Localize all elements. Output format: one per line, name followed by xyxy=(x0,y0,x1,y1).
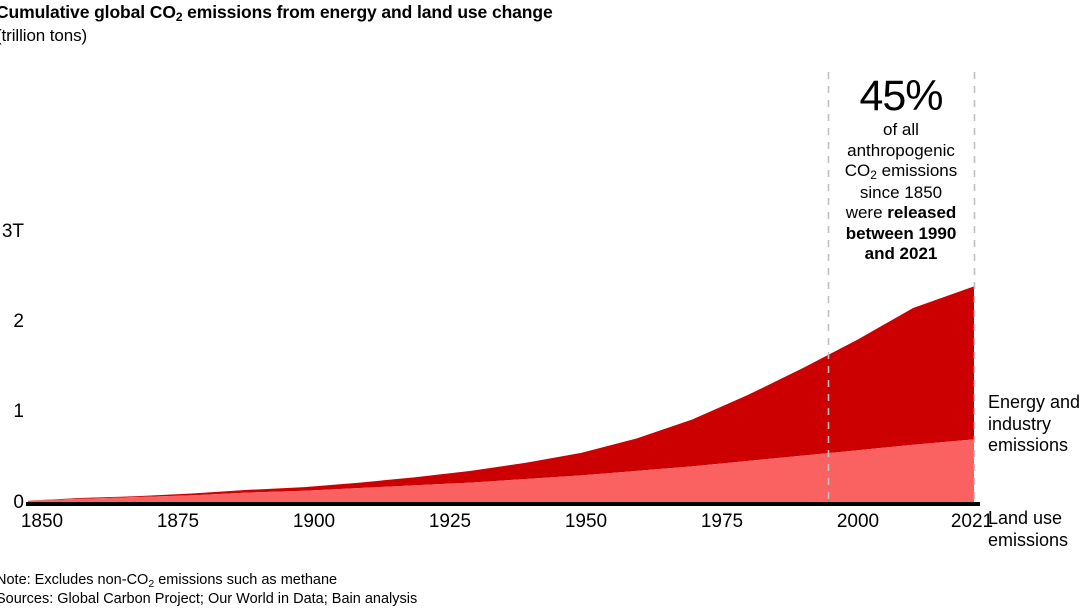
footer-sources: Sources: Global Carbon Project; Our Worl… xyxy=(0,590,996,608)
callout-annotation: 45% of all anthropogenic CO2 emissions s… xyxy=(828,72,974,265)
callout-line-4: since 1850 xyxy=(828,183,974,204)
x-tick-label-1850: 1850 xyxy=(21,512,63,532)
callout-line-3-subscript: 2 xyxy=(870,168,877,182)
callout-line-1: of all xyxy=(828,120,974,141)
x-tick-label-1925: 1925 xyxy=(429,512,471,532)
callout-line-3-pre: CO xyxy=(845,161,871,180)
callout-line-2: anthropogenic xyxy=(828,141,974,162)
callout-line-5-plain: were xyxy=(846,203,888,222)
callout-line-7: and 2021 xyxy=(828,244,974,265)
series-label-energy-line3: emissions xyxy=(988,435,1080,457)
series-label-energy-line2: industry xyxy=(988,414,1080,436)
footer-note-pre: Note: Excludes non-CO xyxy=(0,572,148,588)
y-tick-label-2: 2 xyxy=(0,312,24,331)
series-label-energy-and-industry: Energy and industry emissions xyxy=(988,392,1080,457)
x-axis-labels: 1850 1875 1900 1925 1950 1975 2000 2021 xyxy=(0,512,1080,542)
x-tick-label-1975: 1975 xyxy=(701,512,743,532)
x-tick-label-1900: 1900 xyxy=(293,512,335,532)
y-tick-label-3: 3T xyxy=(0,222,24,241)
x-tick-label-2000: 2000 xyxy=(837,512,879,532)
callout-line-5: were released xyxy=(828,203,974,224)
y-tick-label-1: 1 xyxy=(0,402,24,421)
callout-line-3: CO2 emissions xyxy=(828,161,974,183)
chart-footer: Note: Excludes non-CO2 emissions such as… xyxy=(0,571,996,608)
callout-line-6: between 1990 xyxy=(828,224,974,245)
callout-percentage: 45% xyxy=(828,72,974,120)
y-tick-label-0: 0 xyxy=(0,493,24,512)
x-tick-label-2021: 2021 xyxy=(951,512,993,532)
footer-note-subscript: 2 xyxy=(148,578,154,590)
footer-note-post: emissions such as methane xyxy=(154,572,337,588)
callout-description: of all anthropogenic CO2 emissions since… xyxy=(828,120,974,265)
x-tick-label-1875: 1875 xyxy=(157,512,199,532)
callout-line-3-post: emissions xyxy=(877,161,957,180)
series-label-energy-line1: Energy and xyxy=(988,392,1080,414)
x-tick-label-1950: 1950 xyxy=(565,512,607,532)
callout-line-5-bold: released xyxy=(887,203,956,222)
footer-note: Note: Excludes non-CO2 emissions such as… xyxy=(0,571,996,590)
